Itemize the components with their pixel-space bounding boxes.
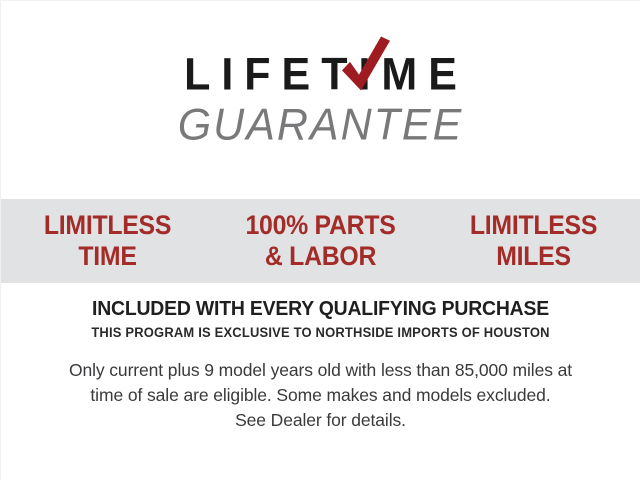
feature-band: LIMITLESS TIME 100% PARTS & LABOR LIMITL… bbox=[1, 199, 640, 283]
logo-word-lifetime: LIFETIME bbox=[173, 50, 468, 99]
fineprint-line: time of sale are eligible. Some makes an… bbox=[41, 383, 601, 408]
feature-column-limitless-miles: LIMITLESS MILES bbox=[436, 210, 632, 272]
feature-line-2: MILES bbox=[436, 241, 632, 272]
logo-lifetime-text: LIFETIME bbox=[184, 49, 468, 100]
subheadline: THIS PROGRAM IS EXCLUSIVE TO NORTHSIDE I… bbox=[14, 323, 627, 342]
feature-column-parts-labor: 100% PARTS & LABOR bbox=[223, 210, 419, 272]
feature-line-2: TIME bbox=[10, 241, 206, 272]
lifetime-guarantee-ad: LIFETIME GUARANTEE LIMITLESS TIME 100% P… bbox=[0, 0, 640, 480]
lower-copy-block: INCLUDED WITH EVERY QUALIFYING PURCHASE … bbox=[1, 297, 640, 433]
feature-column-limitless-time: LIMITLESS TIME bbox=[10, 210, 206, 272]
fineprint-disclaimer: Only current plus 9 model years old with… bbox=[41, 358, 601, 433]
feature-line-1: 100% PARTS bbox=[245, 210, 395, 240]
logo-word-guarantee: GUARANTEE bbox=[1, 100, 640, 150]
fineprint-line: See Dealer for details. bbox=[41, 408, 601, 433]
feature-line-2: & LABOR bbox=[223, 241, 419, 272]
fineprint-line: Only current plus 9 model years old with… bbox=[41, 358, 601, 383]
logo-lockup: LIFETIME GUARANTEE bbox=[1, 53, 640, 149]
feature-line-1: LIMITLESS bbox=[44, 210, 171, 240]
headline: INCLUDED WITH EVERY QUALIFYING PURCHASE bbox=[11, 297, 631, 321]
feature-line-1: LIMITLESS bbox=[470, 210, 597, 240]
